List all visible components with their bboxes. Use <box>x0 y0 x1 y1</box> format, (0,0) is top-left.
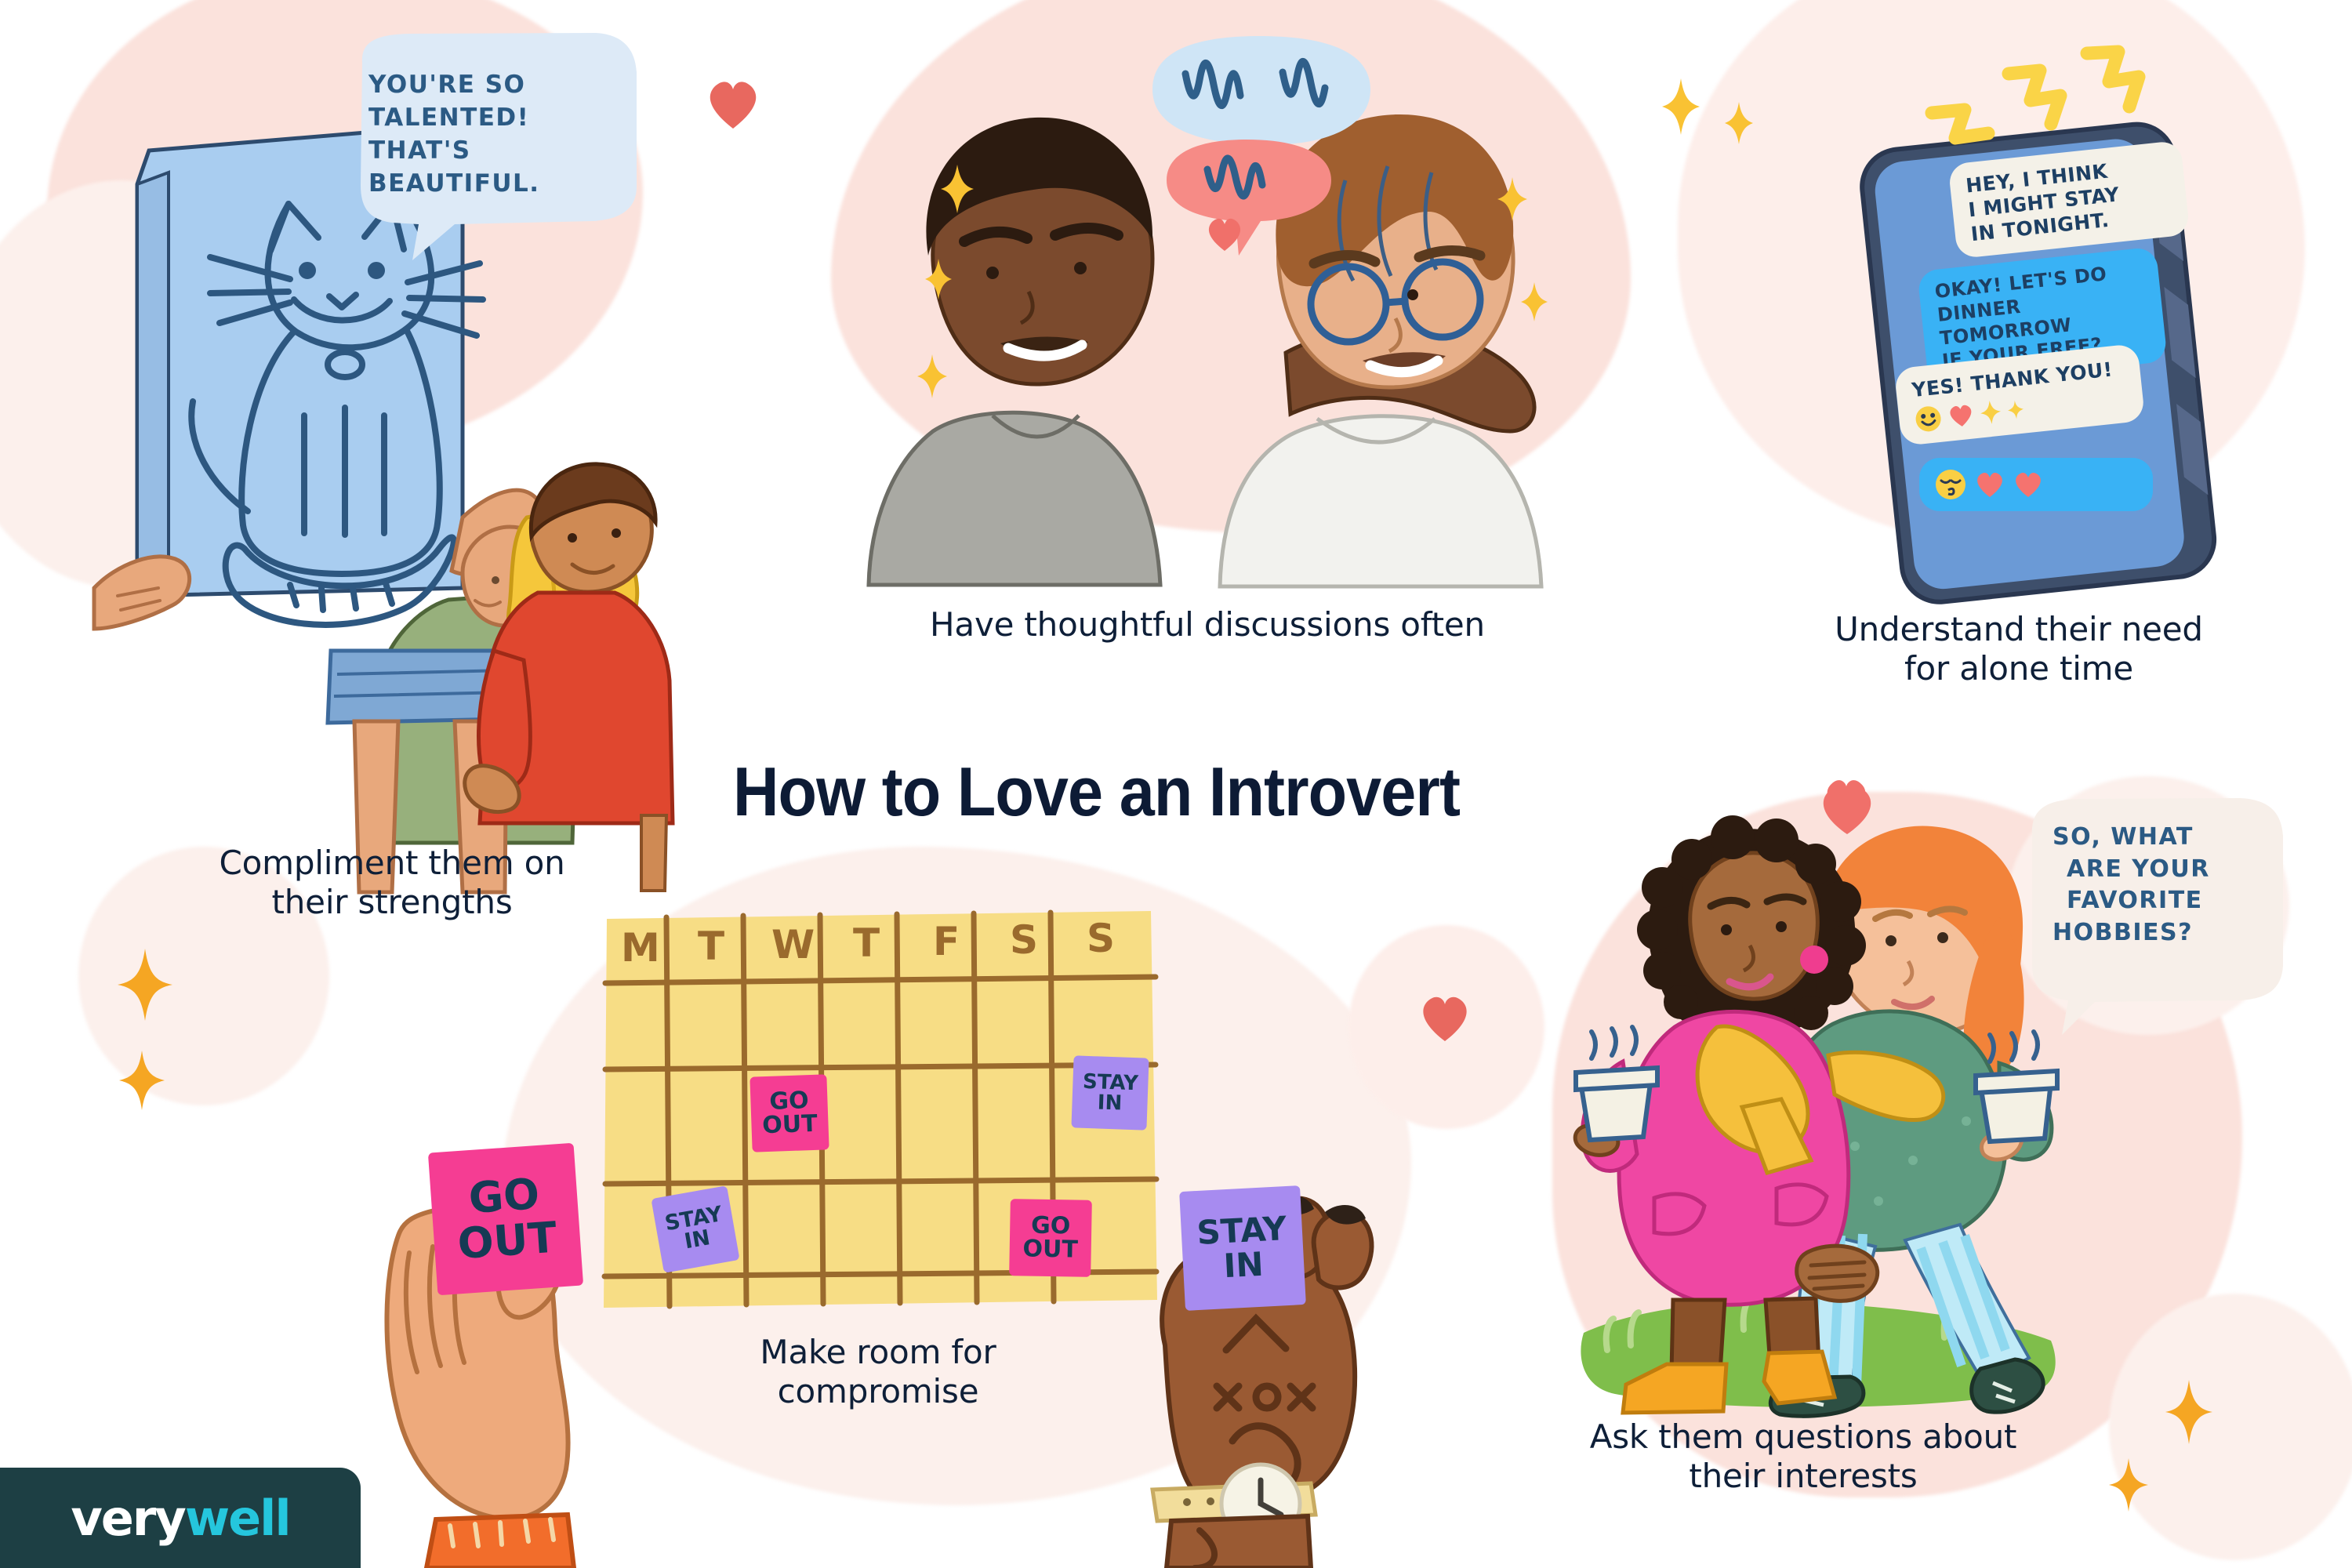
sparkle-emoji-icon <box>1980 400 2002 426</box>
caption-compromise: Make room for compromise <box>659 1333 1098 1410</box>
caption-line: Have thoughtful discussions often <box>792 605 1623 644</box>
sticky-line: In <box>1097 1092 1122 1113</box>
heart-icon <box>1206 216 1243 252</box>
logo-text-very: very <box>71 1490 184 1547</box>
sparkle-icon <box>1662 78 1700 135</box>
caption-interests: Ask them questions about their interests <box>1505 1417 2101 1495</box>
bubble-line: That's <box>368 135 619 168</box>
sparkle-icon <box>925 259 952 299</box>
heart-emoji-icon <box>1947 402 1975 428</box>
sparkle-icon <box>1497 177 1527 221</box>
caption-line: Compliment them on <box>149 844 635 883</box>
svg-text:W: W <box>771 922 815 967</box>
sticky-line: Stay <box>1083 1072 1139 1094</box>
sparkle-icon <box>1521 282 1548 321</box>
sticky-note-go-out-board[interactable]: Go Out <box>1009 1199 1092 1277</box>
sticky-note-go-out-hand[interactable]: Go Out <box>428 1143 583 1296</box>
sparkle-icon <box>118 949 172 1021</box>
compliment-speech-text: You're so Talented! That's Beautiful. <box>368 69 619 200</box>
svg-text:M: M <box>621 925 660 971</box>
sticky-note-go-out-board[interactable]: Go Out <box>750 1074 829 1152</box>
logo-text-well: well <box>185 1490 290 1547</box>
woman-arm-left <box>94 557 190 629</box>
sticky-note-stay-in-board[interactable]: Stay In <box>1071 1055 1149 1130</box>
sticky-line: Out <box>1022 1237 1078 1261</box>
bubble-line: Beautiful. <box>368 168 619 201</box>
verywell-logo[interactable]: verywell <box>0 1468 361 1568</box>
heart-emoji-icon <box>2013 471 2043 498</box>
svg-text:T: T <box>698 924 724 969</box>
sparkle-icon <box>917 354 947 398</box>
caption-line: Understand their need <box>1764 610 2274 649</box>
boy-figure <box>463 455 737 894</box>
phone-message-4 <box>1919 458 2153 511</box>
heart-icon <box>1419 994 1471 1043</box>
kiss-emoji-icon <box>1935 469 1966 500</box>
sparkle-icon <box>2165 1380 2212 1444</box>
svg-text:T: T <box>853 920 880 966</box>
bubble-line: hobbies? <box>2053 917 2272 949</box>
caption-line: their interests <box>1505 1457 2101 1496</box>
scribble-bubble-bottom <box>1160 133 1341 259</box>
caption-line: their strengths <box>149 883 635 922</box>
infographic-canvas: You're so Talented! That's Beautiful. <box>0 0 2352 1568</box>
heart-emoji-icon <box>1975 471 2005 498</box>
bubble-line: Talented! <box>368 102 619 135</box>
caption-line: Ask them questions about <box>1505 1417 2101 1457</box>
background-blob <box>2109 1294 2352 1560</box>
sparkle-icon <box>941 165 974 213</box>
sticky-note-stay-in-hand[interactable]: Stay In <box>1179 1185 1306 1311</box>
sparkle-icon <box>119 1051 165 1110</box>
caption-alone-time: Understand their need for alone time <box>1764 610 2274 688</box>
heart-icon <box>706 78 760 130</box>
sparkle-emoji-icon <box>2007 400 2024 420</box>
svg-text:S: S <box>1010 917 1038 963</box>
caption-compliment: Compliment them on their strengths <box>149 844 635 921</box>
two-women-illustration <box>1576 792 2062 1419</box>
sticky-line: In <box>1223 1247 1265 1284</box>
bubble-line: You're so <box>368 69 619 102</box>
svg-text:F: F <box>933 919 960 964</box>
caption-discussions: Have thoughtful discussions often <box>792 605 1623 644</box>
caption-line: Make room for <box>659 1333 1098 1372</box>
svg-text:S: S <box>1087 916 1115 961</box>
message-emoji-row <box>1935 469 2137 500</box>
sticky-line: Stay <box>1196 1211 1287 1250</box>
caption-line: for alone time <box>1764 649 2274 688</box>
sparkle-icon <box>1725 102 1753 144</box>
sticky-line: Out <box>762 1112 818 1138</box>
bubble-line: So, what <box>2053 822 2272 854</box>
caption-line: compromise <box>659 1372 1098 1411</box>
page-title: How to Love an Introvert <box>733 752 1460 832</box>
sticky-line: Out <box>456 1216 558 1267</box>
bubble-line: favorite <box>2053 885 2272 917</box>
smile-emoji-icon <box>1914 405 1943 434</box>
bubble-line: are your <box>2053 854 2272 886</box>
hobbies-speech-text: So, what are your favorite hobbies? <box>2053 822 2272 949</box>
sparkle-icon <box>2109 1458 2148 1512</box>
heart-icon <box>1819 784 1875 836</box>
